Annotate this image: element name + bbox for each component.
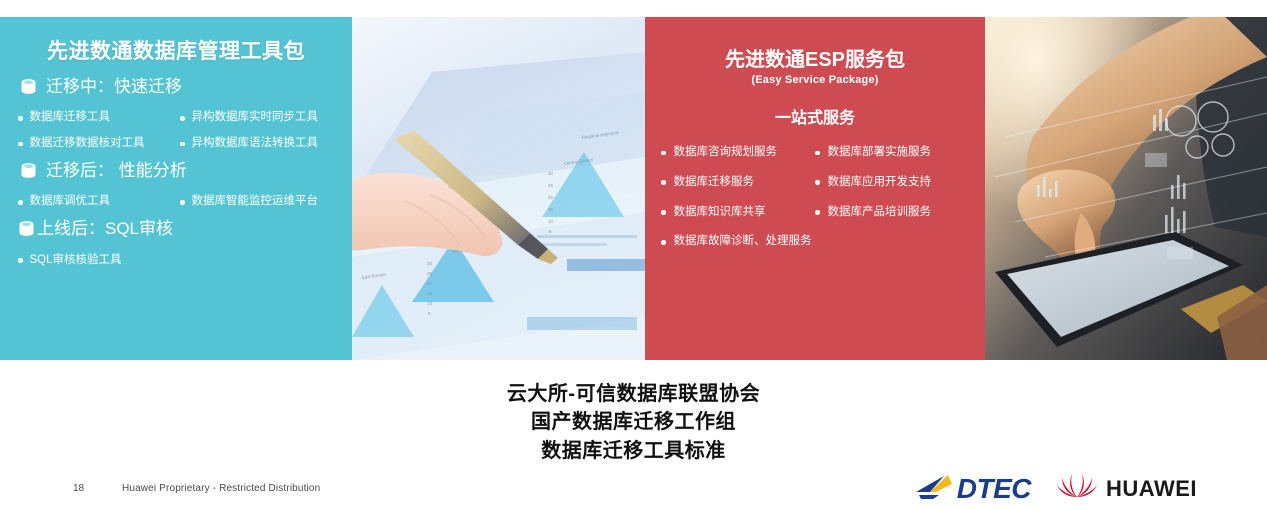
caption-line-2: 国产数据库迁移工作组: [0, 408, 1267, 436]
red-panel: 先进数通ESP服务包 (Easy Service Package) 一站式服务 …: [645, 17, 985, 360]
page-number: 18: [73, 483, 84, 494]
red-panel-tagline: 一站式服务: [655, 104, 975, 128]
bullet-dot-icon: [18, 142, 23, 147]
slide-footer: 18 Huawei Proprietary - Restricted Distr…: [0, 478, 1267, 510]
teal-panel: 先进数通数据库管理工具包 迁移中：快速迁移 数据库迁移工具 异构数据库实时同步工…: [0, 17, 352, 360]
teal-section-heading-2: 迁移后： 性能分析: [20, 161, 338, 181]
list-item: 数据库智能监控运维平台: [176, 189, 338, 215]
list-item-label: 数据库迁移服务: [674, 176, 755, 190]
list-item: 数据库咨询规划服务: [661, 138, 815, 168]
list-item: 数据库产品培训服务: [815, 198, 969, 228]
bullet-dot-icon: [18, 258, 23, 263]
list-item-label: SQL审核核验工具: [30, 254, 122, 268]
list-item-label: 数据库调优工具: [30, 195, 111, 209]
list-item: 异构数据库语法转换工具: [176, 131, 338, 157]
list-item-label: 数据库知识库共享: [674, 206, 766, 220]
svg-text:25: 25: [548, 183, 553, 188]
tablet-photo: [985, 17, 1267, 360]
bullet-dot-icon: [180, 116, 185, 121]
huawei-logo: HUAWEI: [1057, 471, 1197, 506]
slide-root: 先进数通数据库管理工具包 迁移中：快速迁移 数据库迁移工具 异构数据库实时同步工…: [0, 0, 1267, 510]
dtec-mark-icon: [914, 471, 956, 506]
svg-text:25: 25: [427, 271, 432, 276]
bullet-dot-icon: [180, 142, 185, 147]
list-item: 异构数据库实时同步工具: [176, 105, 338, 131]
list-item-label: 数据库智能监控运维平台: [192, 195, 319, 209]
svg-text:20: 20: [427, 281, 432, 286]
list-item: 数据库调优工具: [14, 189, 176, 215]
svg-text:10: 10: [427, 301, 432, 306]
analytics-photo: Regional segments Central Europe West Eu…: [352, 17, 645, 360]
list-item: 数据库迁移服务: [661, 168, 815, 198]
list-item: 数据库部署实施服务: [815, 138, 969, 168]
list-item: 数据库知识库共享: [661, 198, 815, 228]
teal-section-heading-3: 上线后：SQL审核: [18, 219, 338, 239]
teal-section-heading-1: 迁移中：快速迁移: [20, 77, 338, 97]
bullet-dot-icon: [180, 200, 185, 205]
list-item-label: 数据库部署实施服务: [828, 146, 932, 160]
bullet-dot-icon: [661, 240, 666, 245]
content-band: 先进数通数据库管理工具包 迁移中：快速迁移 数据库迁移工具 异构数据库实时同步工…: [0, 17, 1267, 360]
database-icon: [20, 162, 37, 181]
list-item-label: 数据库应用开发支持: [828, 176, 932, 190]
list-item: 数据库应用开发支持: [815, 168, 969, 198]
bullet-dot-icon: [18, 200, 23, 205]
svg-text:30: 30: [427, 261, 432, 266]
list-item-label: 异构数据库实时同步工具: [192, 111, 319, 125]
bullet-dot-icon: [815, 151, 820, 156]
dtec-label: DTEC: [957, 475, 1031, 503]
teal-section-label-3: 上线后：SQL审核: [37, 219, 173, 239]
svg-text:20: 20: [548, 195, 553, 200]
list-item-label: 数据库咨询规划服务: [674, 146, 778, 160]
database-icon: [18, 220, 35, 239]
proprietary-notice: Huawei Proprietary - Restricted Distribu…: [122, 483, 320, 494]
svg-text:10: 10: [548, 219, 553, 224]
red-panel-subtitle: (Easy Service Package): [655, 74, 975, 86]
svg-text:15: 15: [427, 291, 432, 296]
huawei-label: HUAWEI: [1106, 478, 1197, 500]
teal-bullet-list-3: SQL审核核验工具: [14, 248, 338, 274]
caption-block: 云大所-可信数据库联盟协会 国产数据库迁移工作组 数据库迁移工具标准: [0, 380, 1267, 465]
list-item: 数据迁移数据核对工具: [14, 131, 176, 157]
bullet-dot-icon: [661, 180, 666, 185]
logo-group: DTEC HUAWEI: [914, 471, 1197, 506]
teal-bullet-list-1: 数据库迁移工具 异构数据库实时同步工具 数据迁移数据核对工具 异构数据库语法转换…: [14, 105, 338, 157]
teal-section-label-1: 迁移中：快速迁移: [46, 77, 182, 97]
bullet-dot-icon: [18, 116, 23, 121]
bullet-dot-icon: [661, 151, 666, 156]
huawei-flower-icon: [1057, 471, 1097, 506]
svg-text:30: 30: [548, 171, 553, 176]
teal-bullet-list-2: 数据库调优工具 数据库智能监控运维平台: [14, 189, 338, 215]
red-panel-title: 先进数通ESP服务包: [655, 49, 975, 72]
list-item-label: 数据库迁移工具: [30, 111, 111, 125]
list-item-label: 数据库产品培训服务: [828, 206, 932, 220]
bullet-dot-icon: [661, 210, 666, 215]
list-item-label: 异构数据库语法转换工具: [192, 137, 319, 151]
list-item-label: 数据迁移数据核对工具: [30, 137, 145, 151]
bullet-dot-icon: [815, 210, 820, 215]
caption-line-1: 云大所-可信数据库联盟协会: [0, 380, 1267, 408]
list-item: 数据库迁移工具: [14, 105, 176, 131]
teal-section-label-2: 迁移后： 性能分析: [46, 161, 187, 181]
list-item-label: 数据库故障诊断、处理服务: [674, 235, 812, 249]
dtec-logo: DTEC: [914, 471, 1031, 506]
bullet-dot-icon: [815, 180, 820, 185]
database-icon: [20, 78, 37, 97]
list-item: 数据库故障诊断、处理服务: [661, 227, 969, 257]
svg-text:15: 15: [548, 207, 553, 212]
list-item: SQL审核核验工具: [14, 248, 338, 274]
caption-line-3: 数据库迁移工具标准: [0, 437, 1267, 465]
teal-panel-title: 先进数通数据库管理工具包: [14, 40, 338, 63]
red-bullet-list: 数据库咨询规划服务 数据库部署实施服务 数据库迁移服务 数据库应用开发支持 数据…: [655, 138, 975, 257]
